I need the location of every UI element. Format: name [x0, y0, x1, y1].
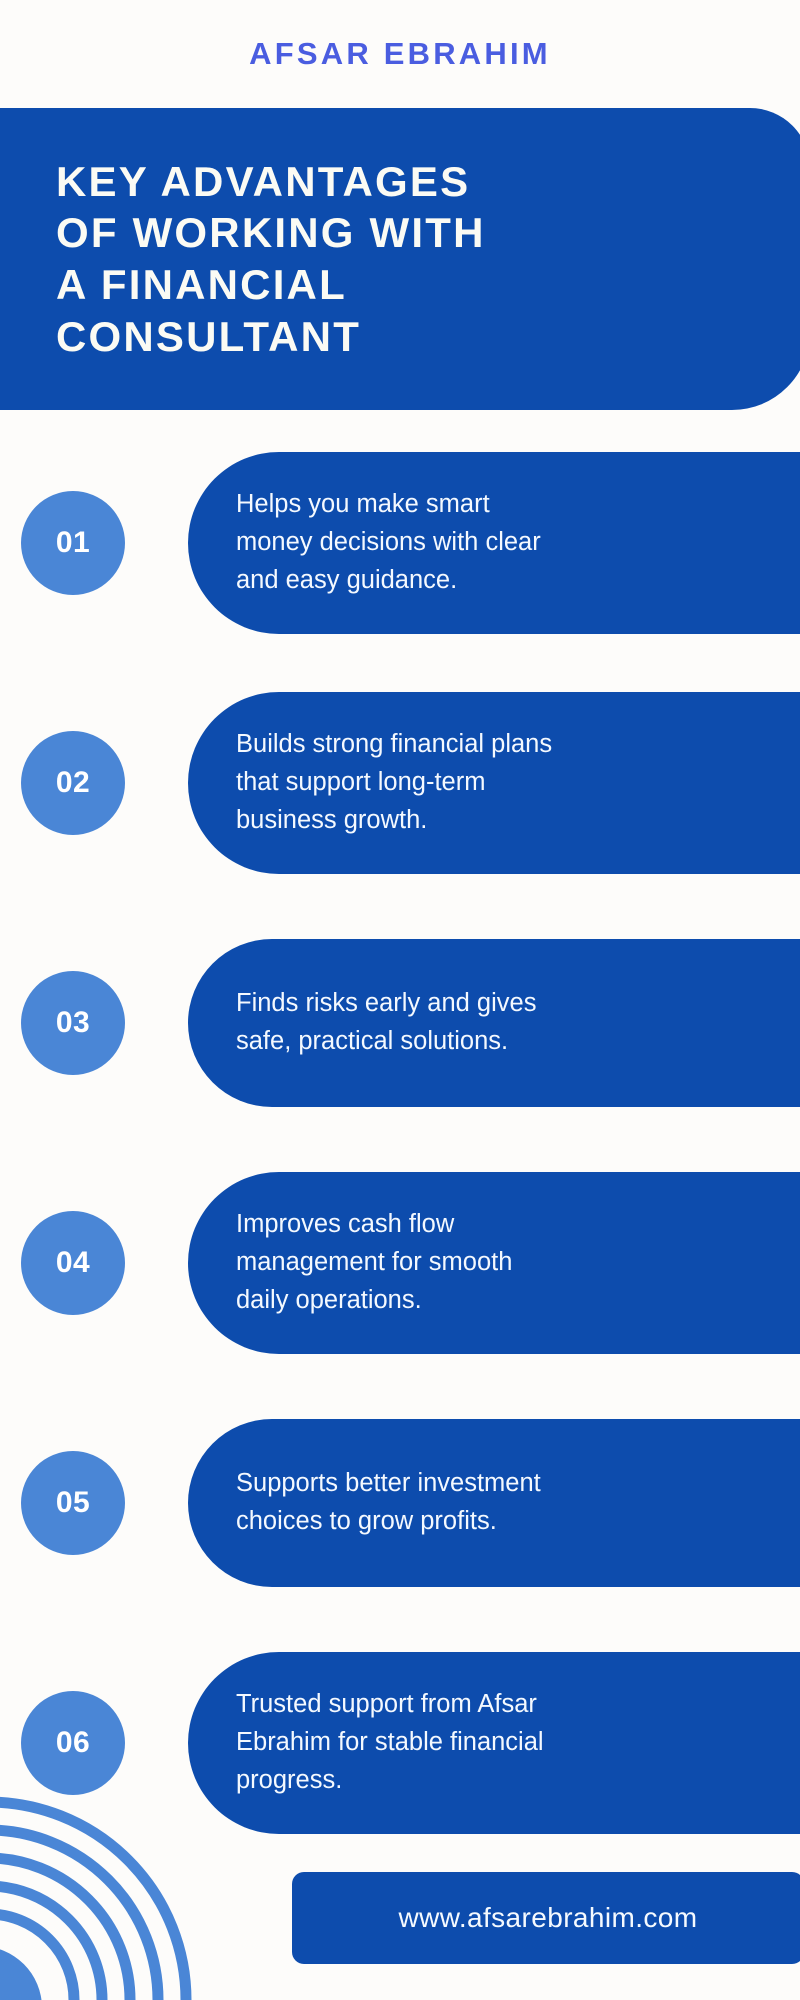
- advantage-text: Trusted support from Afsar Ebrahim for s…: [188, 1660, 602, 1825]
- number-badge-label: 03: [56, 1006, 90, 1040]
- list-item: 05 Supports better investment choices to…: [0, 1412, 800, 1594]
- number-badge-label: 01: [56, 526, 90, 560]
- list-item: 01 Helps you make smart money decisions …: [0, 452, 800, 634]
- list-item: 03 Finds risks early and gives safe, pra…: [0, 932, 800, 1114]
- advantage-text: Finds risks early and gives safe, practi…: [188, 959, 594, 1086]
- number-badge-label: 06: [56, 1726, 90, 1760]
- number-badge-label: 04: [56, 1246, 90, 1280]
- advantage-card: Supports better investment choices to gr…: [188, 1419, 800, 1587]
- brand-name: AFSAR EBRAHIM: [249, 36, 551, 72]
- advantage-card: Trusted support from Afsar Ebrahim for s…: [188, 1652, 800, 1834]
- advantage-text: Supports better investment choices to gr…: [188, 1439, 599, 1566]
- list-item: 04 Improves cash flow management for smo…: [0, 1172, 800, 1354]
- list-item: 02 Builds strong financial plans that su…: [0, 692, 800, 874]
- advantage-card: Helps you make smart money decisions wit…: [188, 452, 800, 634]
- brand-header: AFSAR EBRAHIM: [0, 0, 800, 108]
- number-badge: 03: [21, 971, 125, 1075]
- number-badge: 04: [21, 1211, 125, 1315]
- advantage-text: Improves cash flow management for smooth…: [188, 1180, 570, 1345]
- number-badge: 01: [21, 491, 125, 595]
- website-url-button[interactable]: www.afsarebrahim.com: [292, 1872, 800, 1964]
- website-url-label: www.afsarebrahim.com: [399, 1902, 698, 1934]
- advantage-text: Builds strong financial plans that suppo…: [188, 700, 610, 865]
- list-item: 06 Trusted support from Afsar Ebrahim fo…: [0, 1652, 800, 1834]
- advantage-card: Finds risks early and gives safe, practi…: [188, 939, 800, 1107]
- infographic-page: AFSAR EBRAHIM KEY ADVANTAGES OF WORKING …: [0, 0, 800, 2000]
- advantages-list: 01 Helps you make smart money decisions …: [0, 452, 800, 1892]
- arc-center-dot: [0, 1946, 42, 2000]
- number-badge: 02: [21, 731, 125, 835]
- advantage-text: Helps you make smart money decisions wit…: [188, 460, 599, 625]
- number-badge-label: 05: [56, 1486, 90, 1520]
- number-badge: 06: [21, 1691, 125, 1795]
- number-badge-label: 02: [56, 766, 90, 800]
- advantage-card: Improves cash flow management for smooth…: [188, 1172, 800, 1354]
- header-banner: KEY ADVANTAGES OF WORKING WITH A FINANCI…: [0, 108, 800, 410]
- advantage-card: Builds strong financial plans that suppo…: [188, 692, 800, 874]
- page-title: KEY ADVANTAGES OF WORKING WITH A FINANCI…: [0, 156, 526, 363]
- number-badge: 05: [21, 1451, 125, 1555]
